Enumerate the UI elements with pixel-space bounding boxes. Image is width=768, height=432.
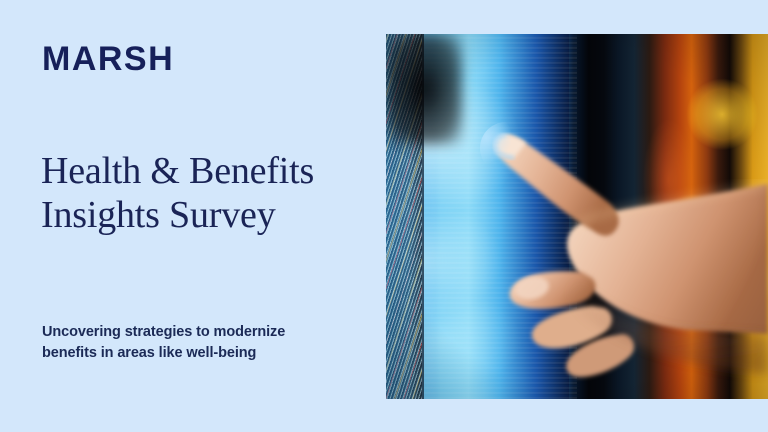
slide-root: MARSH Health & Benefits Insights Survey … bbox=[0, 0, 768, 432]
page-subtitle-line-1: Uncovering strategies to modernize bbox=[42, 322, 372, 343]
page-subtitle-line-2: benefits in areas like well-being bbox=[42, 343, 372, 364]
image-vignette bbox=[386, 34, 768, 399]
page-title-line-2: Insights Survey bbox=[41, 194, 381, 238]
marsh-logo-text: MARSH bbox=[42, 42, 174, 76]
text-column: MARSH Health & Benefits Insights Survey … bbox=[0, 0, 386, 432]
hero-image bbox=[386, 34, 768, 399]
page-title-line-1: Health & Benefits bbox=[41, 150, 381, 194]
marsh-logo: MARSH bbox=[42, 42, 174, 76]
page-title: Health & Benefits Insights Survey bbox=[41, 150, 381, 237]
page-subtitle: Uncovering strategies to modernize benef… bbox=[42, 322, 372, 363]
